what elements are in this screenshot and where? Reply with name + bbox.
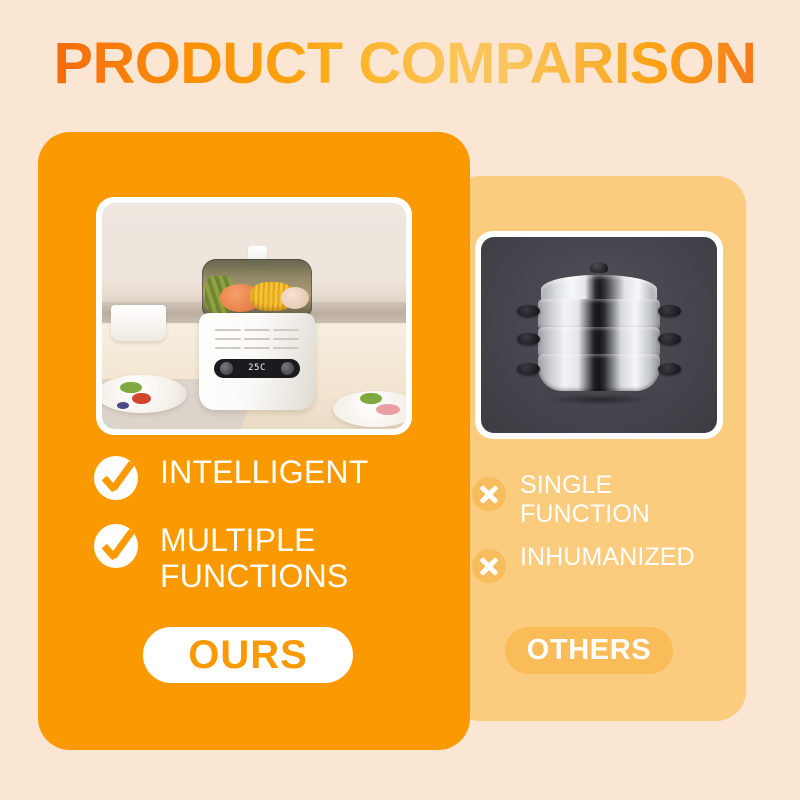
pot-handle-right-1	[658, 305, 680, 317]
food-onion	[281, 287, 309, 309]
ramekin-bowl	[111, 305, 166, 341]
display-knob-right	[281, 362, 294, 375]
pot-handle-left-1	[517, 305, 539, 317]
list-item-label: INTELLIGENT	[160, 454, 368, 490]
x-icon	[472, 549, 506, 583]
pot-tier-3	[538, 354, 660, 391]
others-feature-list: SINGLE FUNCTION INHUMANIZED	[472, 471, 734, 597]
digital-display: 25C	[214, 359, 299, 377]
garnish-blueberry	[117, 402, 129, 409]
list-item: SINGLE FUNCTION	[472, 471, 734, 529]
pot-handle-left-2	[517, 333, 539, 345]
list-item: MULTIPLE FUNCTIONS	[94, 522, 434, 594]
display-knob-left	[220, 362, 233, 375]
list-item: INTELLIGENT	[94, 454, 434, 500]
pot-handle-left-3	[517, 363, 539, 375]
garnish-tomato	[132, 393, 150, 404]
ours-feature-list: INTELLIGENT MULTIPLE FUNCTIONS	[94, 454, 434, 616]
pot-handle-right-2	[658, 333, 680, 345]
display-temperature-value: 25C	[248, 364, 266, 373]
steel-steamer-pot-illustration	[533, 259, 665, 408]
glass-lid	[202, 259, 313, 316]
garnish-herb	[360, 393, 381, 404]
cooker-body: 25C	[199, 313, 315, 410]
check-icon	[94, 524, 138, 568]
others-product-photo-frame	[475, 231, 723, 439]
list-item-label: SINGLE FUNCTION	[520, 471, 650, 529]
ours-product-photo-frame: 25C	[96, 197, 412, 435]
others-card: SINGLE FUNCTION INHUMANIZED OTHERS	[450, 176, 746, 721]
others-badge: OTHERS	[505, 627, 673, 674]
garnish-lettuce	[120, 382, 141, 393]
others-product-photo	[481, 237, 717, 433]
ours-badge: OURS	[143, 627, 353, 683]
list-item-label: MULTIPLE FUNCTIONS	[160, 522, 348, 594]
page-title: PRODUCT COMPARISON	[33, 33, 778, 95]
list-item: INHUMANIZED	[472, 543, 734, 583]
lid-knob	[590, 262, 609, 274]
comparison-infographic: PRODUCT COMPARISON	[0, 0, 800, 800]
pot-handle-right-3	[658, 363, 680, 375]
check-icon	[94, 456, 138, 500]
function-label-grid	[215, 326, 298, 351]
pot-tier-1	[538, 299, 660, 330]
x-icon	[472, 477, 506, 511]
electric-steamer-illustration: 25C	[199, 246, 315, 413]
pot-shadow	[549, 394, 649, 404]
list-item-label: INHUMANIZED	[520, 543, 695, 572]
ours-product-photo: 25C	[102, 203, 406, 429]
ours-card: 25C INTELLIGENT MULTIPLE FUNCTIONS OURS	[38, 132, 470, 750]
